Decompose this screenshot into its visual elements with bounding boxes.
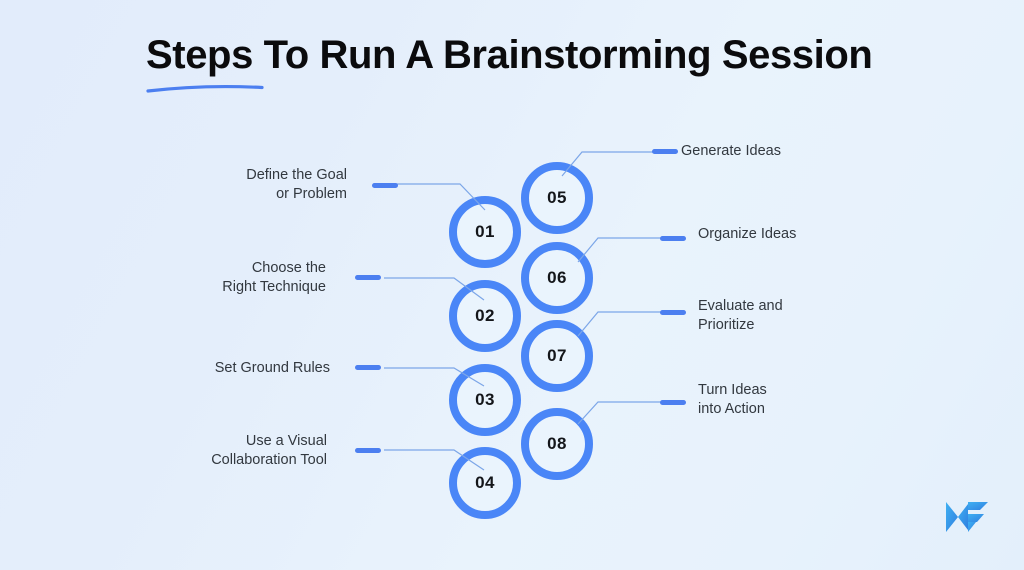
connector-dash-03 <box>355 365 381 370</box>
step-label-02: Choose the Right Technique <box>140 259 326 297</box>
step-circle-04[interactable]: 04 <box>449 447 521 519</box>
brand-logo-icon <box>944 496 990 538</box>
step-number-06: 06 <box>547 268 567 288</box>
page-title: Steps To Run A Brainstorming Session <box>146 34 906 77</box>
connector-line-06 <box>576 226 672 270</box>
step-circle-01[interactable]: 01 <box>449 196 521 268</box>
step-number-03: 03 <box>475 390 495 410</box>
step-number-01: 01 <box>475 222 495 242</box>
connector-dash-07 <box>660 310 686 315</box>
step-label-08: Turn Ideas into Action <box>698 381 918 419</box>
step-number-02: 02 <box>475 306 495 326</box>
step-label-06: Organize Ideas <box>698 225 918 244</box>
connector-dash-08 <box>660 400 686 405</box>
connector-line-07 <box>576 300 672 344</box>
step-label-03: Set Ground Rules <box>140 359 330 378</box>
step-circle-05[interactable]: 05 <box>521 162 593 234</box>
infographic-canvas: Steps To Run A Brainstorming Session 01 … <box>0 0 1024 570</box>
connector-dash-02 <box>355 275 381 280</box>
step-number-04: 04 <box>475 473 495 493</box>
step-number-08: 08 <box>547 434 567 454</box>
step-label-05: Generate Ideas <box>681 142 901 161</box>
step-circle-03[interactable]: 03 <box>449 364 521 436</box>
step-label-04: Use a Visual Collaboration Tool <box>120 432 327 470</box>
step-circle-08[interactable]: 08 <box>521 408 593 480</box>
step-circle-06[interactable]: 06 <box>521 242 593 314</box>
connector-dash-05 <box>652 149 678 154</box>
title-underline-swoosh <box>146 82 264 94</box>
step-label-01: Define the Goal or Problem <box>140 166 347 204</box>
step-label-07: Evaluate and Prioritize <box>698 297 918 335</box>
connector-dash-04 <box>355 448 381 453</box>
step-number-07: 07 <box>547 346 567 366</box>
step-circle-07[interactable]: 07 <box>521 320 593 392</box>
connector-dash-01 <box>372 183 398 188</box>
connector-dash-06 <box>660 236 686 241</box>
step-number-05: 05 <box>547 188 567 208</box>
title-block: Steps To Run A Brainstorming Session <box>146 34 906 77</box>
step-circle-02[interactable]: 02 <box>449 280 521 352</box>
connector-line-08 <box>576 386 672 430</box>
